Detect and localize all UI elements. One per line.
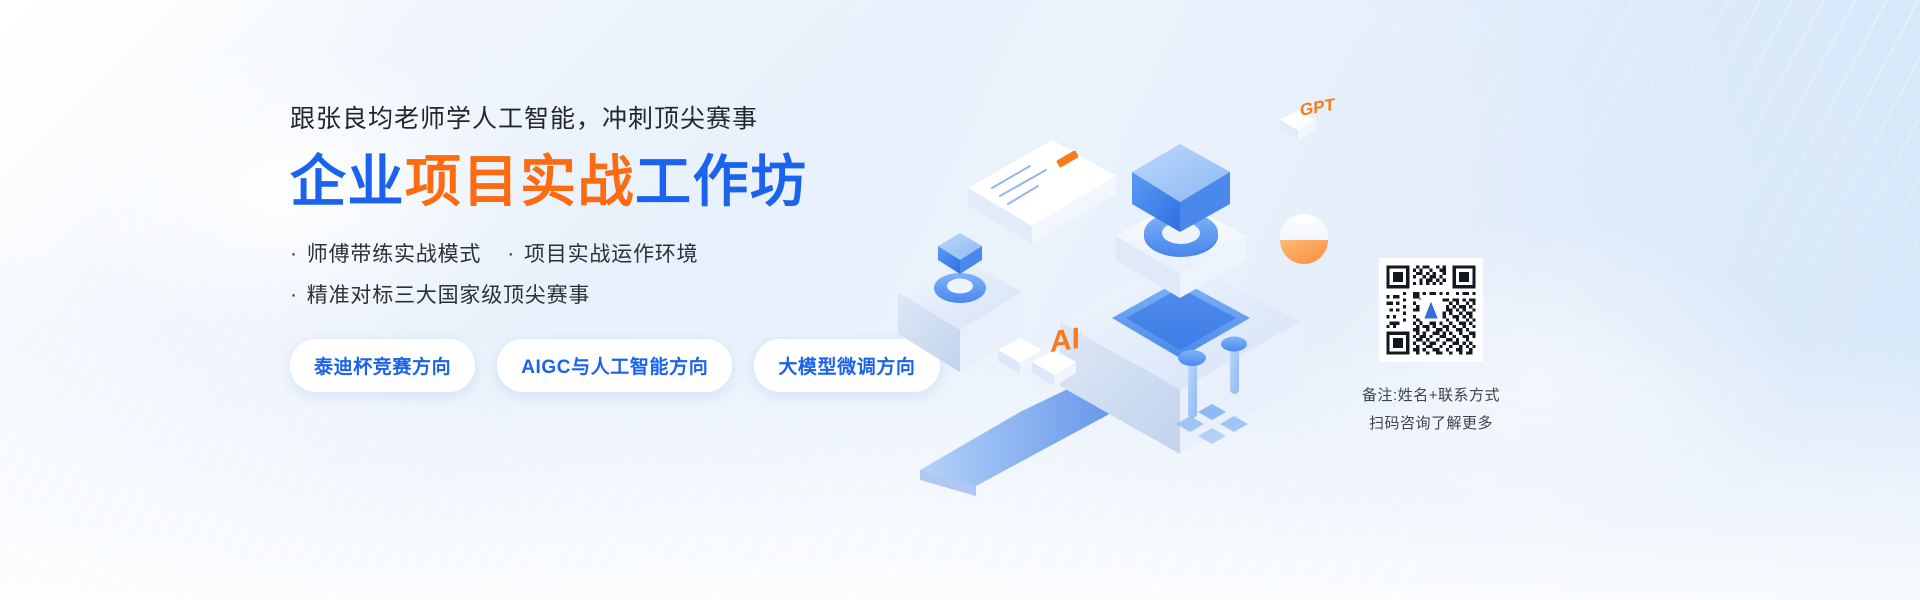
feature-label: 师傅带练实战模式: [307, 242, 481, 268]
qr-code-icon[interactable]: [1379, 258, 1483, 362]
document-card: [968, 140, 1116, 244]
feature-item-1: · 师傅带练实战模式: [290, 242, 481, 268]
feature-list: · 师傅带练实战模式 · 项目实战运作环境 · 精准对标三大国家级顶尖赛事: [290, 242, 910, 309]
feature-item-2: · 项目实战运作环境: [507, 242, 698, 268]
isometric-ai-workshop-illustration: AI GPT: [880, 60, 1350, 530]
background-corner-fade: [0, 0, 340, 260]
promo-banner: 跟张良均老师学人工智能，冲刺顶尖赛事 企业项目实战工作坊 · 师傅带练实战模式 …: [0, 0, 1920, 600]
headline-segment-2: 项目实战: [405, 150, 635, 213]
sphere: [1280, 214, 1328, 264]
bullet-dot-icon: ·: [507, 241, 515, 267]
tag-list: 泰迪杯竞赛方向 AIGC与人工智能方向 大模型微调方向: [290, 339, 910, 392]
feature-item-3: · 精准对标三大国家级顶尖赛事: [290, 283, 590, 309]
ai-badge-icon: AI: [1050, 322, 1080, 359]
qr-block: 备注:姓名+联系方式 扫码咨询了解更多: [1336, 258, 1526, 438]
qr-caption-line-2: 扫码咨询了解更多: [1336, 410, 1526, 438]
tag-aigc[interactable]: AIGC与人工智能方向: [497, 339, 732, 392]
feature-row-2: · 精准对标三大国家级顶尖赛事: [290, 283, 910, 309]
qr-caption: 备注:姓名+联系方式 扫码咨询了解更多: [1336, 382, 1526, 438]
tag-teddy-cup[interactable]: 泰迪杯竞赛方向: [290, 339, 475, 392]
gpt-badge-icon: GPT: [1300, 94, 1335, 120]
feature-label: 精准对标三大国家级顶尖赛事: [307, 283, 590, 309]
feature-row-1: · 师傅带练实战模式 · 项目实战运作环境: [290, 242, 910, 268]
banner-content: 跟张良均老师学人工智能，冲刺顶尖赛事 企业项目实战工作坊 · 师傅带练实战模式 …: [290, 104, 910, 392]
bullet-dot-icon: ·: [290, 282, 298, 308]
banner-subtitle: 跟张良均老师学人工智能，冲刺顶尖赛事: [290, 104, 910, 134]
headline-segment-3: 工作坊: [635, 150, 808, 213]
banner-headline: 企业项目实战工作坊: [290, 152, 910, 212]
qr-logo-icon: [1419, 298, 1442, 321]
feature-label: 项目实战运作环境: [524, 242, 698, 268]
qr-caption-line-1: 备注:姓名+联系方式: [1336, 382, 1526, 410]
bullet-dot-icon: ·: [290, 241, 298, 267]
headline-segment-1: 企业: [290, 150, 405, 213]
background-stripes-topright: [1360, 0, 1920, 300]
